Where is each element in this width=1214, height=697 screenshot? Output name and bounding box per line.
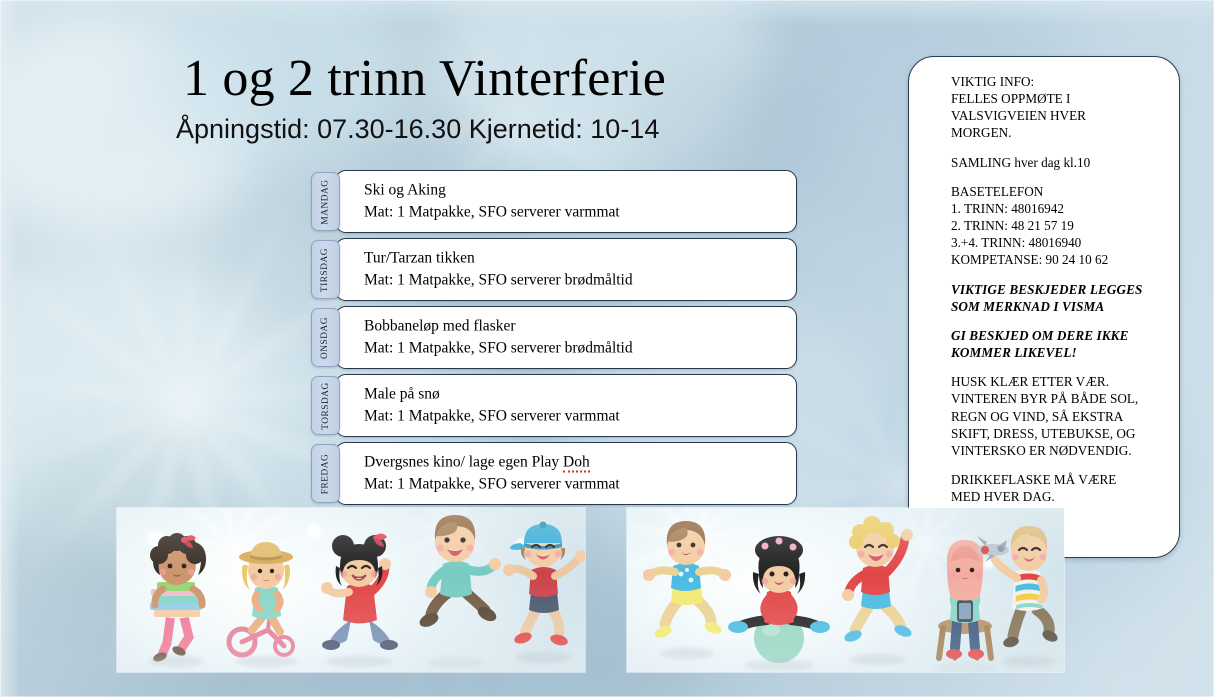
info-heading: BASETELEFON bbox=[951, 183, 1165, 200]
phone-kompetanse: KOMPETANSE: 90 24 10 62 bbox=[951, 251, 1165, 268]
day-card: Dvergsnes kino/ lage egen Play Doh Mat: … bbox=[335, 442, 797, 505]
info-line: MORGEN. bbox=[951, 124, 1165, 141]
day-activity-text: Ski og Aking Mat: 1 Matpakke, SFO server… bbox=[364, 179, 620, 224]
info-block-visma: VIKTIGE BESKJEDER LEGGES SOM MERKNAD I V… bbox=[951, 281, 1165, 315]
day-label-tab-tirsdag: TIRSDAG bbox=[311, 240, 340, 299]
day-label-tab-onsdag: ONSDAG bbox=[311, 308, 340, 367]
day-label-tab-fredag: FREDAG bbox=[311, 444, 340, 503]
info-line: KOMMER LIKEVEL! bbox=[951, 344, 1165, 361]
kid-girl-on-tricycle bbox=[222, 534, 310, 662]
food-line: Mat: 1 Matpakke, SFO serverer varmmat bbox=[364, 406, 620, 428]
kid-boy-blue-cap bbox=[497, 516, 585, 658]
day-label-tab-mandag: MANDAG bbox=[311, 172, 340, 231]
day-label: ONSDAG bbox=[321, 316, 331, 358]
schedule-row-onsdag: Bobbaneløp med flasker Mat: 1 Matpakke, … bbox=[311, 306, 797, 369]
info-block-beskjed: GI BESKJED OM DERE IKKE KOMMER LIKEVEL! bbox=[951, 327, 1165, 361]
kid-boy-cheering-red bbox=[829, 514, 925, 660]
food-line: Mat: 1 Matpakke, SFO serverer varmmat bbox=[364, 474, 620, 496]
poster-canvas: 1 og 2 trinn Vinterferie Åpningstid: 07.… bbox=[0, 0, 1214, 697]
day-card: Bobbaneløp med flasker Mat: 1 Matpakke, … bbox=[335, 306, 797, 369]
day-label: MANDAG bbox=[321, 179, 331, 224]
kid-girl-with-books bbox=[133, 527, 219, 662]
info-line: VIKTIGE BESKJEDER LEGGES bbox=[951, 281, 1165, 298]
day-activity-text: Male på snø Mat: 1 Matpakke, SFO servere… bbox=[364, 383, 620, 428]
info-line: SKIFT, DRESS, UTEBUKSE, OG bbox=[951, 425, 1165, 442]
day-activity-text: Bobbaneløp med flasker Mat: 1 Matpakke, … bbox=[364, 315, 633, 360]
kid-girl-red-cheering bbox=[313, 524, 405, 662]
food-line: Mat: 1 Matpakke, SFO serverer brødmåltid bbox=[364, 338, 633, 360]
info-line: REGN OG VIND, SÅ EKSTRA bbox=[951, 408, 1165, 425]
kid-boy-jumping-blue bbox=[641, 514, 733, 654]
phone-trinn-2: 2. TRINN: 48 21 57 19 bbox=[951, 217, 1165, 234]
kid-boy-jumping-teal bbox=[407, 508, 503, 646]
info-line: DRIKKEFLASKE MÅ VÆRE bbox=[951, 471, 1165, 488]
info-line: VINTEREN BYR PÅ BÅDE SOL, bbox=[951, 390, 1165, 407]
schedule-row-tirsdag: Tur/Tarzan tikken Mat: 1 Matpakke, SFO s… bbox=[311, 238, 797, 301]
day-activity-text: Tur/Tarzan tikken Mat: 1 Matpakke, SFO s… bbox=[364, 247, 633, 292]
food-line: Mat: 1 Matpakke, SFO serverer brødmåltid bbox=[364, 270, 633, 292]
day-card: Ski og Aking Mat: 1 Matpakke, SFO server… bbox=[335, 170, 797, 233]
day-label: FREDAG bbox=[321, 453, 331, 494]
info-line: VIKTIG INFO: bbox=[951, 73, 1165, 90]
info-line: HUSK KLÆR ETTER VÆR. bbox=[951, 373, 1165, 390]
food-line: Mat: 1 Matpakke, SFO serverer varmmat bbox=[364, 202, 620, 224]
day-label-tab-torsdag: TORSDAG bbox=[311, 376, 340, 435]
info-block-basetelefon: BASETELEFON 1. TRINN: 48016942 2. TRINN:… bbox=[951, 183, 1165, 269]
info-line: GI BESKJED OM DERE IKKE bbox=[951, 327, 1165, 344]
children-illustration-right bbox=[627, 508, 1064, 672]
day-label: TIRSDAG bbox=[321, 247, 331, 291]
important-info-panel: VIKTIG INFO: FELLES OPPMØTE I VALSVIGVEI… bbox=[908, 56, 1180, 558]
activity-line: Ski og Aking bbox=[364, 179, 620, 201]
info-block-viktig-info: VIKTIG INFO: FELLES OPPMØTE I VALSVIGVEI… bbox=[951, 73, 1165, 142]
page-title: 1 og 2 trinn Vinterferie bbox=[183, 53, 666, 105]
activity-line: Tur/Tarzan tikken bbox=[364, 247, 633, 269]
children-illustration-left bbox=[117, 508, 585, 672]
info-line: VINTERSKO ER NØDVENDIG. bbox=[951, 442, 1165, 459]
info-block-drikkeflaske: DRIKKEFLASKE MÅ VÆRE MED HVER DAG. bbox=[951, 471, 1165, 505]
phone-trinn-1: 1. TRINN: 48016942 bbox=[951, 200, 1165, 217]
weekly-schedule: Ski og Aking Mat: 1 Matpakke, SFO server… bbox=[311, 170, 797, 510]
day-label: TORSDAG bbox=[321, 382, 331, 430]
info-line: SAMLING hver dag kl.10 bbox=[951, 154, 1165, 171]
info-line: VALSVIGVEIEN HVER bbox=[951, 107, 1165, 124]
activity-line: Male på snø bbox=[364, 383, 620, 405]
day-card: Male på snø Mat: 1 Matpakke, SFO servere… bbox=[335, 374, 797, 437]
kid-boy-with-toy-plane bbox=[985, 518, 1064, 662]
schedule-row-fredag: Dvergsnes kino/ lage egen Play Doh Mat: … bbox=[311, 442, 797, 505]
info-block-samling: SAMLING hver dag kl.10 bbox=[951, 154, 1165, 171]
day-activity-text: Dvergsnes kino/ lage egen Play Doh Mat: … bbox=[364, 451, 620, 496]
opening-hours-subtitle: Åpningstid: 07.30-16.30 Kjernetid: 10-14 bbox=[176, 115, 659, 145]
activity-text: Dvergsnes kino/ lage egen Play bbox=[364, 453, 563, 470]
schedule-row-torsdag: Male på snø Mat: 1 Matpakke, SFO servere… bbox=[311, 374, 797, 437]
info-line: SOM MERKNAD I VISMA bbox=[951, 298, 1165, 315]
info-line: MED HVER DAG. bbox=[951, 488, 1165, 505]
activity-line: Dvergsnes kino/ lage egen Play Doh bbox=[364, 451, 620, 473]
info-line: FELLES OPPMØTE I bbox=[951, 90, 1165, 107]
misspelled-word: Doh bbox=[563, 453, 590, 472]
phone-trinn-3-4: 3.+4. TRINN: 48016940 bbox=[951, 234, 1165, 251]
info-block-klaer: HUSK KLÆR ETTER VÆR. VINTEREN BYR PÅ BÅD… bbox=[951, 373, 1165, 459]
schedule-row-mandag: Ski og Aking Mat: 1 Matpakke, SFO server… bbox=[311, 170, 797, 233]
kid-girl-on-bouncy-ball bbox=[727, 526, 831, 666]
day-card: Tur/Tarzan tikken Mat: 1 Matpakke, SFO s… bbox=[335, 238, 797, 301]
activity-line: Bobbaneløp med flasker bbox=[364, 315, 633, 337]
